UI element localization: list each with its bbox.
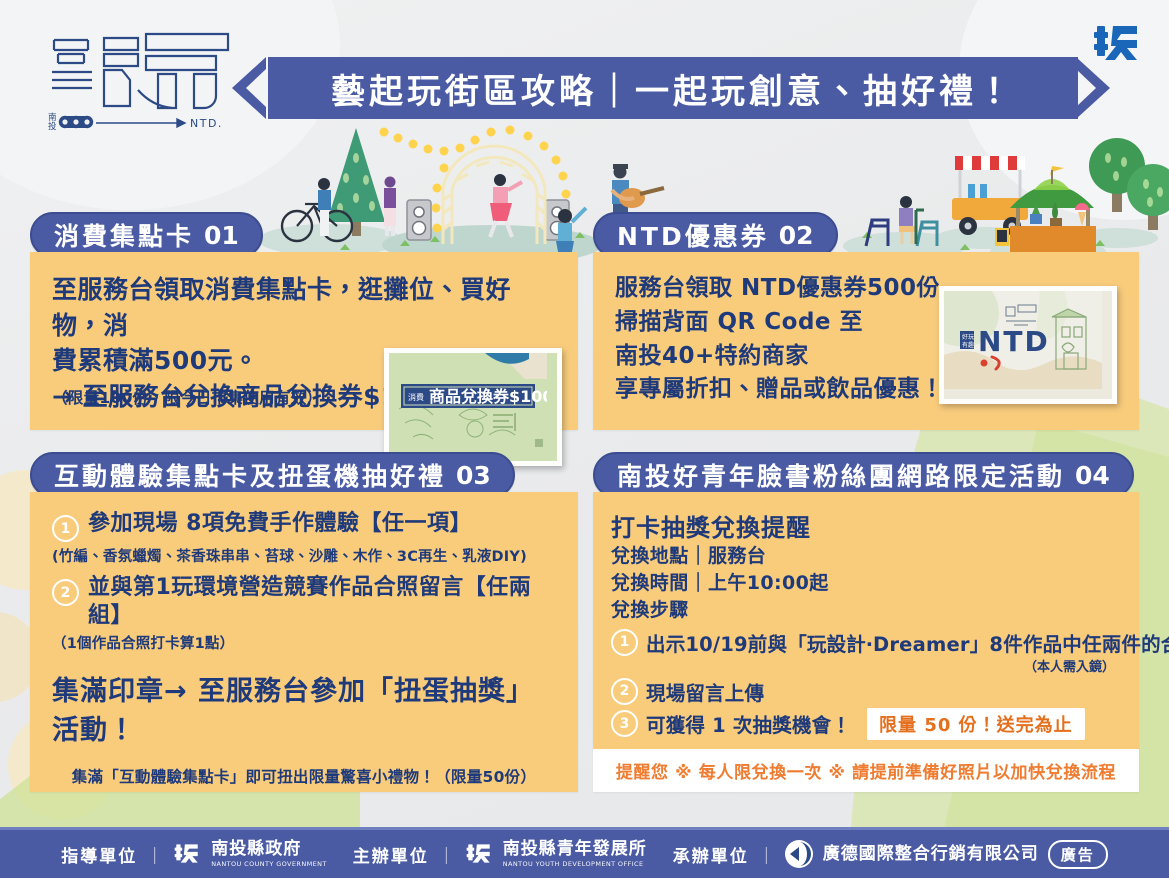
chevron-left-icon bbox=[222, 57, 268, 119]
card04-steps: 1 出示10/19前與「玩設計‧Dreamer」8件作品中任兩件的合照 （本人需… bbox=[611, 628, 1121, 740]
footer-host-label: 主辦單位 bbox=[353, 842, 429, 867]
step-bullet-3: 3 bbox=[611, 710, 638, 737]
footer-guide-org-cn: 南投縣政府 bbox=[211, 841, 326, 858]
card04-step-3: 3 可獲得 1 次抽獎機會！ 限量 50 份！送完為止 bbox=[611, 708, 1121, 740]
ntd-coupon-image: 好玩 有趣 NTD bbox=[939, 286, 1117, 404]
card04-number: 04 bbox=[1075, 461, 1110, 490]
card03-title: 互動體驗集點卡及扭蛋機抽好禮 bbox=[54, 457, 446, 493]
svg-text:好玩: 好玩 bbox=[962, 333, 974, 341]
card03-number: 03 bbox=[456, 461, 491, 490]
card04-limit-badge: 限量 50 份！送完為止 bbox=[867, 708, 1085, 740]
tou-mark-icon-2 bbox=[464, 839, 494, 869]
card04-mirror-note: （本人需入鏡） bbox=[611, 656, 1115, 675]
footer-separator-3: ｜ bbox=[758, 842, 775, 867]
footer-guide-org-en: NANTOU COUNTY GOVERNMENT bbox=[211, 861, 326, 868]
svg-text:NTD: NTD bbox=[978, 325, 1050, 358]
card03-step-2: 2 並與第1玩環境營造競賽作品合照留言【任兩組】 bbox=[52, 574, 556, 629]
card01-body: 至服務台領取消費集點卡，逛攤位、買好物，消 費累積滿500元。 → 至服務台兌換… bbox=[30, 252, 578, 430]
footer-host-unit: 主辦單位 ｜ 南投縣青年發展所 NANTOU YOUTH DEVELOPMENT… bbox=[353, 839, 647, 869]
card01-title: 消費集點卡 bbox=[54, 217, 194, 253]
card-facebook-online-event: 南投好青年臉書粉絲團網路限定活動 04 打卡抽獎兌換提醒 兌換地點｜服務台 兌換… bbox=[593, 452, 1139, 792]
card01-number: 01 bbox=[204, 221, 239, 250]
footer-guide-label: 指導單位 bbox=[61, 842, 137, 867]
svg-text:投: 投 bbox=[48, 121, 57, 132]
card01-line-1: 至服務台領取消費集點卡，逛攤位、買好物，消 bbox=[52, 272, 556, 343]
footer-exec-org: 廣德國際整合行銷有限公司 bbox=[823, 846, 1039, 863]
footer-guide-org: 南投縣政府 NANTOU COUNTY GOVERNMENT bbox=[211, 841, 326, 868]
card03-body: 1 參加現場 8項免費手作體驗【任一項】 (竹編、香氛蠟燭、茶香珠串串、苔球、沙… bbox=[30, 492, 578, 792]
card03-step-2-text: 並與第1玩環境營造競賽作品合照留言【任兩組】 bbox=[88, 574, 556, 629]
ad-badge: 廣告 bbox=[1048, 840, 1108, 869]
tou-mark-icon-1 bbox=[172, 839, 202, 869]
chevron-right-icon bbox=[1074, 57, 1120, 119]
svg-text:消費: 消費 bbox=[408, 392, 424, 402]
page-title: 藝起玩街區攻略｜一起玩創意、抽好禮！ bbox=[268, 57, 1078, 119]
card04-place: 兌換地點｜服務台 bbox=[611, 543, 1121, 570]
card03-step-1-sub: (竹編、香氛蠟燭、茶香珠串串、苔球、沙雕、木作、3C再生、乳液DIY) bbox=[52, 545, 556, 566]
card02-body: 服務台領取 NTD優惠券500份 掃描背面 QR Code 至 南投40+特約商… bbox=[593, 252, 1139, 430]
card04-body: 打卡抽獎兌換提醒 兌換地點｜服務台 兌換時間｜上午10:00起 兌換步驟 1 出… bbox=[593, 492, 1139, 792]
card-consumption-points: 消費集點卡 01 至服務台領取消費集點卡，逛攤位、買好物，消 費累積滿500元。… bbox=[30, 212, 578, 430]
brand-logo: 南 投 NTD. bbox=[46, 28, 236, 138]
company-logo-icon bbox=[784, 839, 814, 869]
svg-text:商品兌換券$100: 商品兌換券$100 bbox=[429, 387, 547, 406]
card04-step-3-text: 可獲得 1 次抽獎機會！ bbox=[646, 709, 851, 738]
card-interactive-points: 互動體驗集點卡及扭蛋機抽好禮 03 1 參加現場 8項免費手作體驗【任一項】 (… bbox=[30, 452, 578, 792]
card04-reminder: 提醒您 ※ 每人限兌換一次 ※ 請提前準備好照片以加快兌換流程 bbox=[593, 749, 1139, 792]
footer-separator-1: ｜ bbox=[146, 842, 163, 867]
poster-root: 南 投 NTD. bbox=[0, 0, 1169, 878]
coupon-image: 消費 商品兌換券$100 bbox=[384, 348, 562, 466]
card04-step-2: 2 現場留言上傳 bbox=[611, 677, 1121, 706]
footer-host-org-cn: 南投縣青年發展所 bbox=[503, 841, 647, 858]
footer-exec-label: 承辦單位 bbox=[673, 842, 749, 867]
card04-time: 兌換時間｜上午10:00起 bbox=[611, 570, 1121, 597]
card04-title: 南投好青年臉書粉絲團網路限定活動 bbox=[617, 457, 1065, 493]
footer-exec-unit: 承辦單位 ｜ 廣德國際整合行銷有限公司 廣告 bbox=[673, 839, 1108, 869]
title-ribbon: 藝起玩街區攻略｜一起玩創意、抽好禮！ bbox=[222, 57, 1120, 119]
step-bullet-1: 1 bbox=[611, 629, 638, 656]
step-bullet-2: 2 bbox=[52, 579, 79, 606]
svg-text:有趣: 有趣 bbox=[962, 341, 974, 349]
step-bullet-1: 1 bbox=[52, 515, 79, 542]
svg-text:NTD.: NTD. bbox=[190, 117, 223, 130]
footer-host-org-en: NANTOU YOUTH DEVELOPMENT OFFICE bbox=[503, 861, 647, 868]
step-bullet-2: 2 bbox=[611, 678, 638, 705]
card04-step-2-text: 現場留言上傳 bbox=[646, 677, 764, 706]
card03-footnote: 集滿「互動體驗集點卡」即可扭出限量驚喜小禮物！（限量50份） bbox=[52, 765, 556, 787]
footer-bar: 指導單位 ｜ 南投縣政府 NANTOU COUNTY GOVERNMENT 主辦… bbox=[0, 830, 1169, 878]
card-ntd-coupon: NTD優惠券 02 服務台領取 NTD優惠券500份 掃描背面 QR Code … bbox=[593, 212, 1139, 430]
card03-step-1: 1 參加現場 8項免費手作體驗【任一項】 bbox=[52, 510, 556, 542]
card02-title: NTD優惠券 bbox=[617, 217, 769, 253]
card03-highlight: 集滿印章→ 至服務台參加「扭蛋抽獎」活動！ bbox=[52, 669, 556, 747]
card04-steps-label: 兌換步驟 bbox=[611, 597, 1121, 624]
footer-host-org: 南投縣青年發展所 NANTOU YOUTH DEVELOPMENT OFFICE bbox=[503, 841, 647, 868]
card02-number: 02 bbox=[779, 221, 814, 250]
card04-step-1-text: 出示10/19前與「玩設計‧Dreamer」8件作品中任兩件的合照 bbox=[646, 628, 1169, 657]
footer-guide-unit: 指導單位 ｜ 南投縣政府 NANTOU COUNTY GOVERNMENT bbox=[61, 839, 326, 869]
card01-note: （限量100份，限今日市集使用有效） bbox=[52, 386, 322, 408]
card03-step-2-sub: （1個作品合照打卡算1點） bbox=[52, 632, 556, 653]
card03-step-1-text: 參加現場 8項免費手作體驗【任一項】 bbox=[88, 510, 472, 538]
card04-step-1: 1 出示10/19前與「玩設計‧Dreamer」8件作品中任兩件的合照 bbox=[611, 628, 1121, 657]
card04-subtitle: 打卡抽獎兌換提醒 bbox=[611, 508, 1121, 543]
footer-separator-2: ｜ bbox=[438, 842, 455, 867]
footer-exec-org-cn: 廣德國際整合行銷有限公司 bbox=[823, 846, 1039, 863]
